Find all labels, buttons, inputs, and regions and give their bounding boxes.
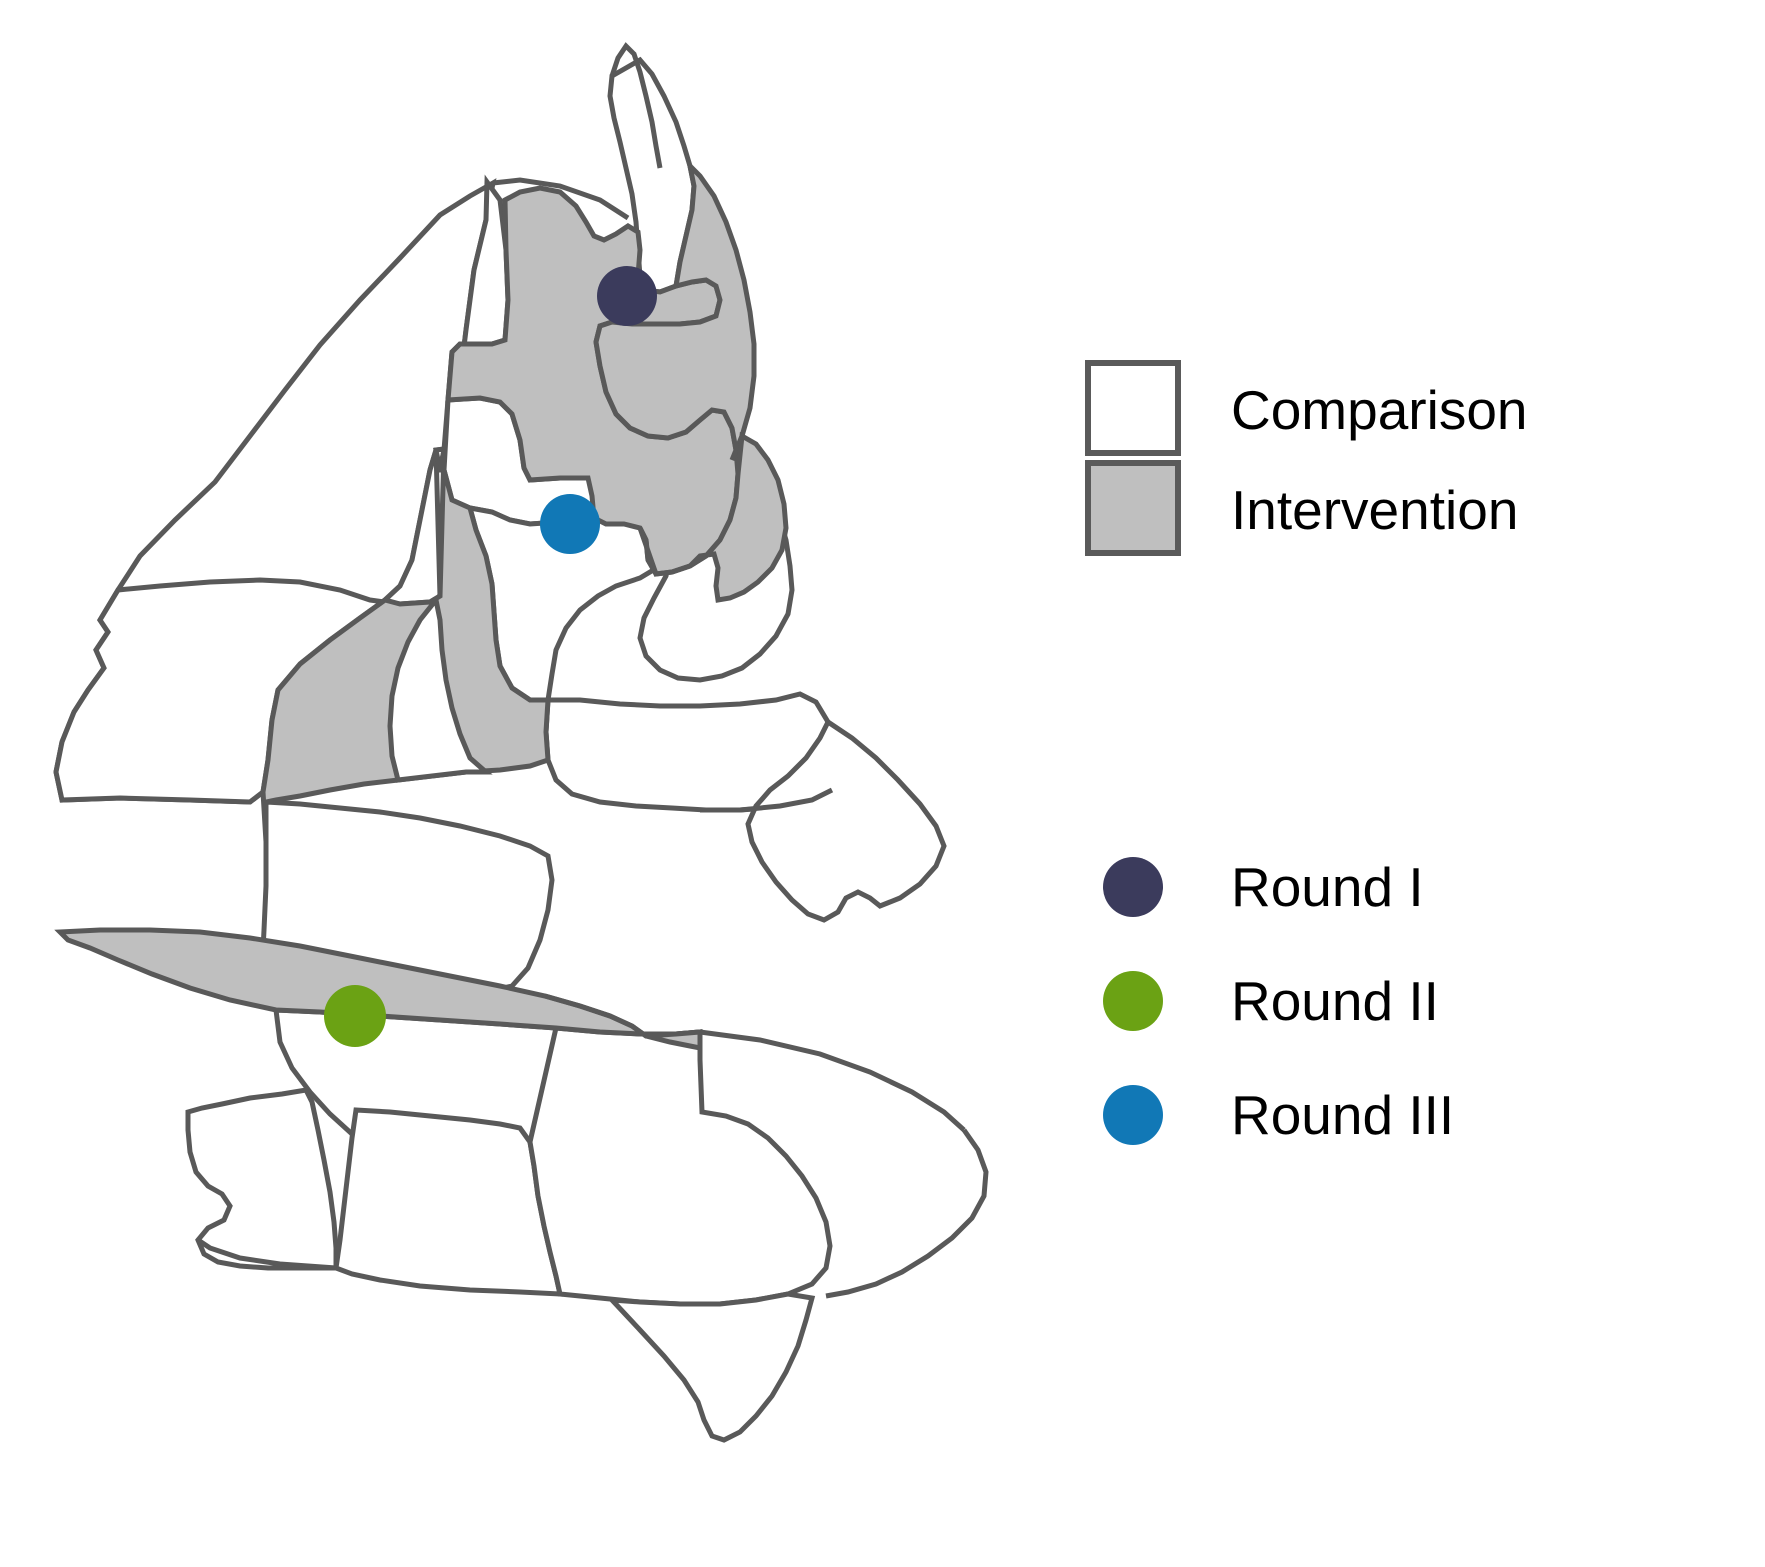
- round-i-dot-icon: [1103, 857, 1163, 917]
- comparison-label: Comparison: [1231, 360, 1528, 460]
- district-bottom-tail[interactable]: [612, 1294, 812, 1440]
- district-south-mid[interactable]: [336, 1110, 560, 1294]
- round-ii-marker[interactable]: [324, 985, 386, 1047]
- map-panel: [0, 0, 1010, 1562]
- round-iii-dot-icon: [1103, 1085, 1163, 1145]
- legend-row-round-iii[interactable]: Round III: [1085, 1058, 1454, 1172]
- round-i-label: Round I: [1231, 855, 1424, 919]
- legend-row-round-ii[interactable]: Round II: [1085, 944, 1454, 1058]
- round-ii-label: Round II: [1231, 969, 1439, 1033]
- round-i-marker[interactable]: [597, 266, 657, 326]
- figure-root: Comparison Intervention Round I Round II…: [0, 0, 1765, 1562]
- fill-legend-labels: Comparison Intervention: [1231, 360, 1528, 560]
- legend-row-round-i[interactable]: Round I: [1085, 830, 1454, 944]
- district-sw-lower[interactable]: [188, 1090, 336, 1268]
- intervention-swatch[interactable]: [1085, 460, 1181, 556]
- intervention-label: Intervention: [1231, 460, 1528, 560]
- boundary-east-outer: [826, 1130, 986, 1296]
- fill-legend: Comparison Intervention: [1085, 360, 1528, 560]
- district-map[interactable]: [0, 0, 1010, 1562]
- round-iii-marker[interactable]: [540, 494, 600, 554]
- district-south-east-lower[interactable]: [530, 1028, 830, 1304]
- rounds-legend: Round I Round II Round III: [1085, 830, 1454, 1172]
- comparison-swatch[interactable]: [1085, 360, 1181, 456]
- boundary-south-band-top: [700, 1032, 964, 1130]
- legend-panel: Comparison Intervention Round I Round II…: [1010, 0, 1765, 1562]
- fill-legend-swatches: [1085, 360, 1181, 556]
- round-iii-label: Round III: [1231, 1083, 1454, 1147]
- round-ii-dot-icon: [1103, 971, 1163, 1031]
